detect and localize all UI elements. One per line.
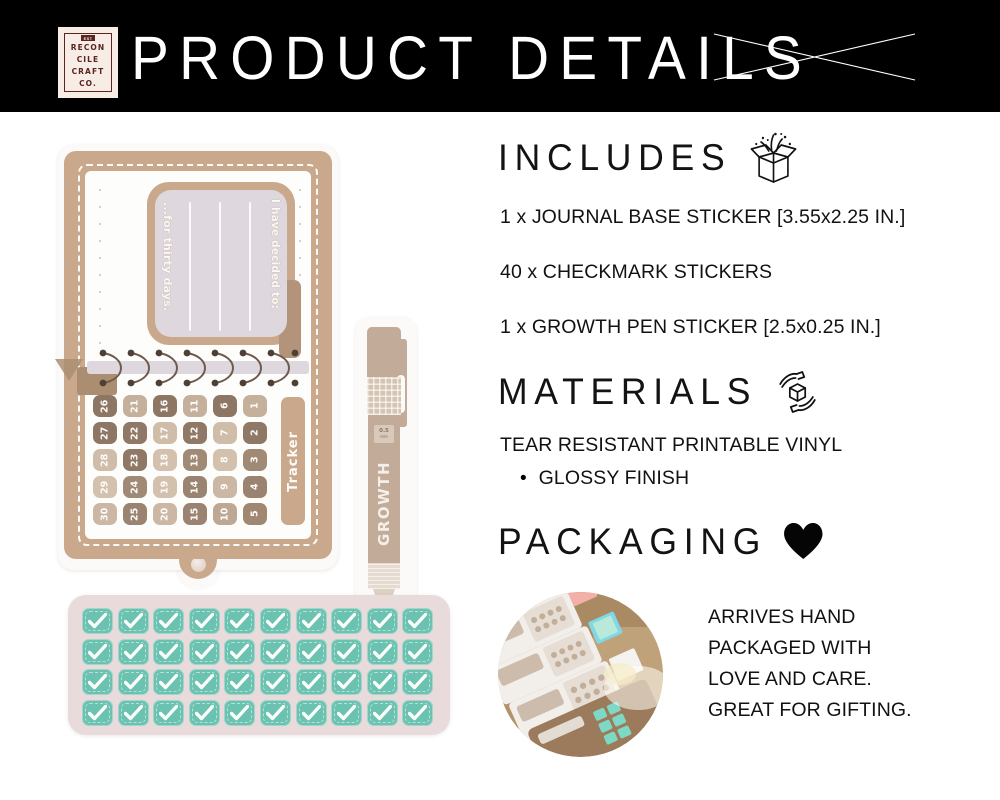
product-copy-panel: INCLUDES	[470, 112, 1000, 800]
open-box-sparkle-icon	[747, 132, 801, 184]
checkmark-tile	[402, 639, 433, 665]
tracker-day-9: 9	[213, 476, 237, 498]
packaging-line: PACKAGED WITH	[708, 635, 912, 662]
packaging-description: ARRIVES HAND PACKAGED WITH LOVE AND CARE…	[708, 604, 912, 728]
checkmark-tile	[118, 639, 149, 665]
packaging-heading-row: PACKAGING	[498, 520, 825, 564]
checkmark-tile	[82, 608, 113, 634]
checkmark-tile	[367, 700, 398, 726]
checkmark-tile	[118, 669, 149, 695]
includes-item: 1 x JOURNAL BASE STICKER [3.55x2.25 IN.]	[500, 204, 905, 231]
tracker-day-1: 1	[243, 395, 267, 417]
journal-spiral-binding-icon	[97, 347, 302, 389]
logo-line-1: RECON	[71, 43, 106, 54]
tracker-day-21: 21	[123, 395, 147, 417]
checkmark-tile	[367, 608, 398, 634]
checkmark-sticker-sheet-image	[68, 595, 450, 735]
journal-page: I have decided to: ...for thirty days.	[85, 171, 311, 539]
checkmark-tile	[367, 669, 398, 695]
note-rule-line	[249, 202, 251, 331]
checkmark-tile	[189, 639, 220, 665]
product-image-panel: I have decided to: ...for thirty days.	[0, 112, 470, 800]
checkmark-tile	[118, 608, 149, 634]
checkmark-tile	[367, 639, 398, 665]
growth-pen-sticker-image: 0.5 mm GROWTH	[355, 317, 417, 635]
tracker-day-15: 15	[183, 503, 207, 525]
includes-item: 1 x GROWTH PEN STICKER [2.5x0.25 IN.]	[500, 314, 905, 341]
tracker-day-17: 17	[153, 422, 177, 444]
hands-holding-cube-icon	[773, 368, 823, 416]
logo-line-3: CRAFT	[72, 67, 105, 78]
bullet-dot-icon: •	[520, 465, 527, 492]
checkmark-tile	[153, 608, 184, 634]
packaging-photo-image	[498, 592, 663, 757]
pen-tip-size-badge: 0.5 mm	[374, 425, 394, 443]
tracker-day-13: 13	[183, 449, 207, 471]
tracker-day-12: 12	[183, 422, 207, 444]
tracker-day-10: 10	[213, 503, 237, 525]
checkmark-tile	[331, 700, 362, 726]
tracker-label: Tracker	[281, 397, 305, 525]
packaging-line: LOVE AND CARE.	[708, 666, 912, 693]
checkmark-tile	[189, 700, 220, 726]
materials-body: TEAR RESISTANT PRINTABLE VINYL • GLOSSY …	[500, 432, 842, 492]
packaging-heading: PACKAGING	[498, 520, 767, 564]
logo-line-2: CILE	[77, 55, 100, 66]
tracker-day-24: 24	[123, 476, 147, 498]
tracker-day-29: 29	[93, 476, 117, 498]
tracker-day-19: 19	[153, 476, 177, 498]
packaging-photo	[498, 592, 663, 757]
pen-lower-band	[368, 563, 400, 589]
tracker-day-2: 2	[243, 422, 267, 444]
checkmark-tile	[260, 700, 291, 726]
checkmark-tile	[118, 700, 149, 726]
tracker-day-27: 27	[93, 422, 117, 444]
includes-item: 40 x CHECKMARK STICKERS	[500, 259, 905, 286]
checkmark-tile	[224, 639, 255, 665]
journal-note-surface: I have decided to: ...for thirty days.	[155, 190, 287, 337]
journal-note-card: I have decided to: ...for thirty days.	[147, 182, 295, 345]
checkmark-tile	[296, 669, 327, 695]
journal-base-sticker-image: I have decided to: ...for thirty days.	[58, 145, 338, 570]
page-header: EST RECON CILE CRAFT CO. PRODUCT DETAILS	[0, 0, 1000, 112]
checkmark-tile	[153, 639, 184, 665]
heart-icon	[782, 522, 824, 562]
packaging-line: ARRIVES HAND	[708, 604, 912, 631]
tracker-number-grid: 2621161161272217127228231813832924191494…	[93, 395, 273, 530]
tracker-day-11: 11	[183, 395, 207, 417]
tracker-day-20: 20	[153, 503, 177, 525]
note-rule-line	[219, 202, 221, 331]
materials-bullet-row: • GLOSSY FINISH	[500, 465, 842, 492]
checkmark-tile	[153, 700, 184, 726]
tracker-day-28: 28	[93, 449, 117, 471]
tracker-day-7: 7	[213, 422, 237, 444]
materials-primary: TEAR RESISTANT PRINTABLE VINYL	[500, 432, 842, 459]
checkmark-tile	[82, 669, 113, 695]
includes-list: 1 x JOURNAL BASE STICKER [3.55x2.25 IN.]…	[500, 204, 905, 369]
stamp-inner-frame: EST RECON CILE CRAFT CO.	[64, 33, 112, 92]
note-rule-line	[189, 202, 191, 331]
tracker-day-14: 14	[183, 476, 207, 498]
tracker-day-18: 18	[153, 449, 177, 471]
checkmark-grid	[82, 608, 438, 730]
checkmark-tile	[224, 700, 255, 726]
materials-bullet-text: GLOSSY FINISH	[539, 465, 689, 492]
materials-heading-row: MATERIALS	[498, 368, 822, 416]
pen-word-wrap: GROWTH	[369, 457, 399, 549]
checkmark-tile	[331, 669, 362, 695]
logo-est-badge: EST	[81, 35, 95, 41]
journal-dot-column-left	[99, 189, 101, 359]
checkmark-tile	[189, 608, 220, 634]
checkmark-tile	[153, 669, 184, 695]
page-title: PRODUCT DETAILS	[131, 22, 812, 94]
checkmark-tile	[402, 608, 433, 634]
checkmark-tile	[224, 669, 255, 695]
includes-heading-row: INCLUDES	[498, 132, 801, 184]
checkmark-tile	[296, 639, 327, 665]
checkmark-tile	[331, 639, 362, 665]
checkmark-tile	[82, 700, 113, 726]
pen-gingham-grip	[367, 377, 401, 415]
checkmark-tile	[82, 639, 113, 665]
brand-logo-stamp: EST RECON CILE CRAFT CO.	[58, 27, 118, 98]
tracker-day-4: 4	[243, 476, 267, 498]
tracker-day-22: 22	[123, 422, 147, 444]
tracker-day-5: 5	[243, 503, 267, 525]
checkmark-tile	[296, 700, 327, 726]
tracker-day-30: 30	[93, 503, 117, 525]
tracker-label-text: Tracker	[286, 431, 301, 492]
tracker-day-8: 8	[213, 449, 237, 471]
tracker-day-25: 25	[123, 503, 147, 525]
checkmark-tile	[260, 608, 291, 634]
includes-heading: INCLUDES	[498, 136, 731, 180]
checkmark-tile	[224, 608, 255, 634]
tracker-day-3: 3	[243, 449, 267, 471]
checkmark-tile	[331, 608, 362, 634]
packaging-line: GREAT FOR GIFTING.	[708, 697, 912, 724]
product-details-page: EST RECON CILE CRAFT CO. PRODUCT DETAILS	[0, 0, 1000, 800]
journal-tracker-grid: 2621161161272217127228231813832924191494…	[93, 395, 303, 535]
x-cross-icon	[713, 33, 916, 81]
checkmark-tile	[296, 608, 327, 634]
tracker-day-23: 23	[123, 449, 147, 471]
journal-note-heading: I have decided to:	[269, 199, 281, 309]
checkmark-tile	[402, 669, 433, 695]
tracker-day-6: 6	[213, 395, 237, 417]
logo-line-4: CO.	[79, 79, 97, 90]
materials-heading: MATERIALS	[498, 370, 757, 414]
journal-tab-hole	[191, 557, 206, 572]
checkmark-tile	[189, 669, 220, 695]
journal-note-subtext: ...for thirty days.	[161, 202, 174, 311]
tracker-day-16: 16	[153, 395, 177, 417]
checkmark-tile	[402, 700, 433, 726]
checkmark-tile	[260, 639, 291, 665]
tracker-day-26: 26	[93, 395, 117, 417]
pen-word-text: GROWTH	[375, 461, 393, 546]
pen-tip-size-unit: mm	[380, 435, 388, 439]
checkmark-tile	[260, 669, 291, 695]
